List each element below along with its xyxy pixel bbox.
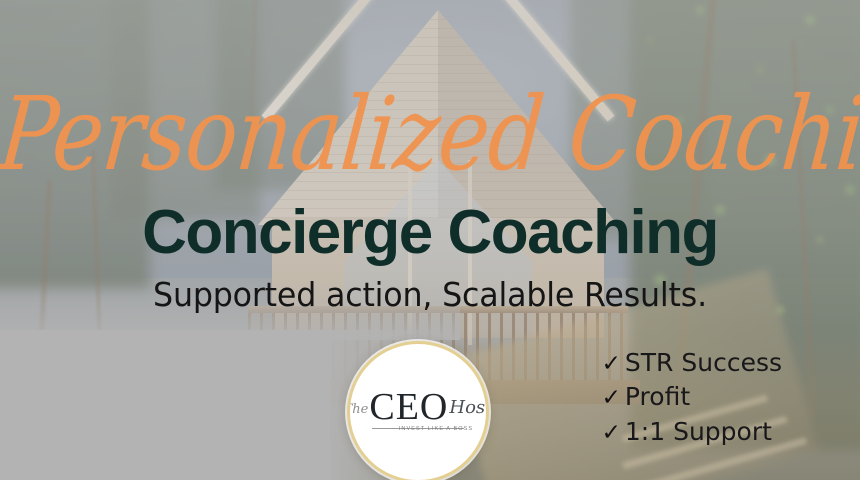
logo-the-text: The — [347, 402, 368, 417]
benefit-label: 1:1 Support — [625, 415, 772, 448]
check-icon: ✓ — [602, 418, 621, 448]
script-overlay-text: Personalized Coaching — [0, 84, 860, 185]
check-icon: ✓ — [602, 349, 621, 379]
logo-tagline: Invest Like a Boss — [399, 426, 473, 432]
benefit-label: Profit — [625, 380, 690, 413]
brand-logo: The CEO Host Invest Like a Boss — [347, 341, 489, 480]
promo-banner: Personalized Coaching Concierge Coaching… — [0, 0, 860, 480]
check-icon: ✓ — [602, 383, 621, 413]
list-item: ✓ Profit — [602, 380, 691, 413]
gray-overlay-block — [0, 330, 330, 480]
page-title: Concierge Coaching — [0, 202, 860, 264]
list-item: ✓ 1:1 Support — [602, 415, 772, 448]
logo-wordmark: The CEO Host — [350, 388, 486, 426]
logo-host-text: Host — [449, 397, 489, 418]
list-item: ✓ STR Success — [602, 346, 782, 379]
benefits-list: ✓ STR Success ✓ Profit ✓ 1:1 Support — [602, 346, 782, 448]
benefit-label: STR Success — [625, 346, 782, 379]
logo-ceo-text: CEO — [369, 388, 448, 426]
subtitle: Supported action, Scalable Results. — [17, 278, 843, 311]
